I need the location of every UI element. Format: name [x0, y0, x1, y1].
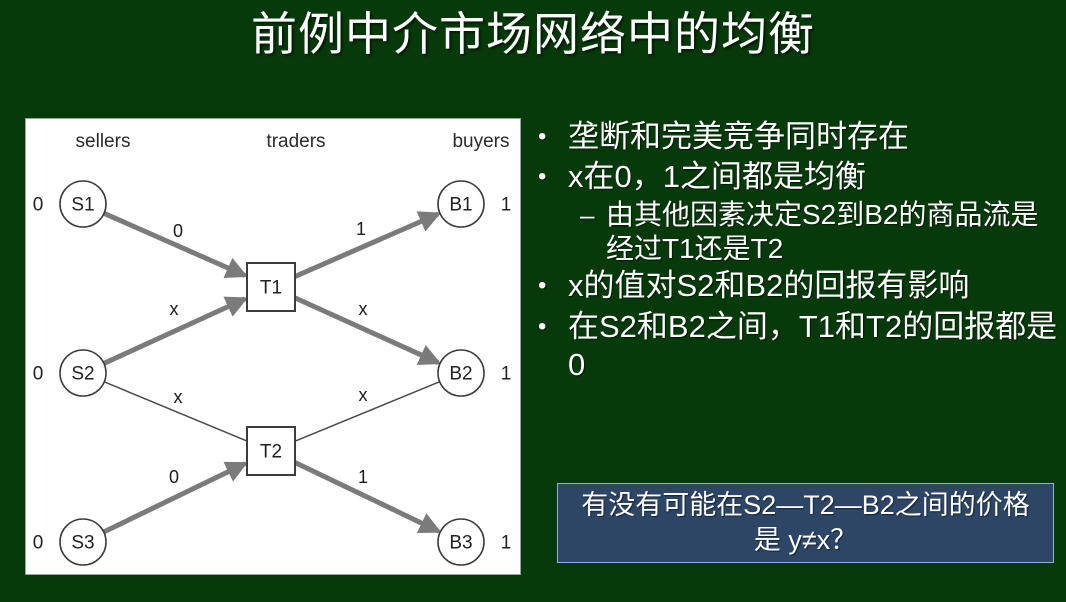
column-header-sellers: sellers — [76, 131, 131, 152]
bullet-item: •在S2和B2之间，T1和T2的回报都是0 — [536, 308, 1060, 384]
node-label-T1: T1 — [260, 278, 282, 299]
bullet-marker-icon: • — [538, 267, 568, 304]
bullet-text: 垄断和完美竞争同时存在 — [568, 118, 1060, 156]
node-label-B2: B2 — [449, 364, 472, 385]
graph-node-S3: S30 — [33, 519, 106, 565]
network-diagram-panel: sellerstradersbuyers 0xx01xx1 S10S20S30T… — [25, 118, 521, 575]
edge-label-S3-to-T2: 0 — [169, 467, 179, 487]
question-callout-box: 有没有可能在S2—T2—B2之间的价格是 y≠x？ — [557, 483, 1054, 563]
graph-node-T1: T1 — [247, 263, 295, 311]
bullet-item: –由其他因素决定S2到B2的商品流是经过T1还是T2 — [536, 198, 1060, 265]
edge-label-T2-to-B2: x — [359, 385, 368, 405]
edge-label-T1-to-B1: 1 — [356, 219, 366, 239]
graph-node-T2: T2 — [247, 427, 295, 475]
node-value-B3: 1 — [501, 533, 512, 554]
page-title: 前例中介市场网络中的均衡 — [0, 8, 1066, 61]
edge-label-T2-to-B3: 1 — [358, 467, 368, 487]
column-header-buyers: buyers — [452, 131, 509, 152]
node-label-S2: S2 — [71, 364, 94, 385]
graph-node-B3: B31 — [438, 519, 511, 565]
graph-node-S2: S20 — [33, 350, 106, 396]
bullet-item: •垄断和完美竞争同时存在 — [536, 118, 1060, 156]
node-value-S3: 0 — [33, 533, 44, 554]
column-header-traders: traders — [266, 131, 325, 152]
bullet-marker-icon: – — [580, 198, 606, 233]
node-value-B1: 1 — [501, 195, 512, 216]
bullet-list: •垄断和完美竞争同时存在•x在0，1之间都是均衡–由其他因素决定S2到B2的商品… — [536, 118, 1060, 386]
node-label-T2: T2 — [260, 442, 282, 463]
node-value-B2: 1 — [501, 364, 512, 385]
bullet-text: x在0，1之间都是均衡 — [568, 158, 1060, 196]
bullet-text: 在S2和B2之间，T1和T2的回报都是0 — [568, 308, 1060, 384]
node-label-S1: S1 — [71, 195, 94, 216]
network-diagram-svg: sellerstradersbuyers 0xx01xx1 S10S20S30T… — [26, 119, 522, 576]
graph-edge-T1-to-B1 — [295, 214, 438, 277]
edge-label-S2-to-T1: x — [170, 299, 179, 319]
node-label-S3: S3 — [71, 533, 94, 554]
column-headers: sellerstradersbuyers — [76, 131, 510, 152]
edge-label-T1-to-B2: x — [359, 299, 368, 319]
question-callout-text: 有没有可能在S2—T2—B2之间的价格是 y≠x？ — [558, 488, 1053, 557]
bullet-marker-icon: • — [538, 158, 568, 195]
bullet-marker-icon: • — [538, 308, 568, 345]
bullet-text: x的值对S2和B2的回报有影响 — [568, 267, 1060, 305]
nodes-group: S10S20S30T1T2B11B21B31 — [33, 181, 512, 565]
graph-node-S1: S10 — [33, 181, 106, 227]
bullet-item: •x的值对S2和B2的回报有影响 — [536, 267, 1060, 305]
node-value-S2: 0 — [33, 364, 44, 385]
bullet-marker-icon: • — [538, 118, 568, 155]
bullet-item: •x在0，1之间都是均衡 — [536, 158, 1060, 196]
graph-node-B2: B21 — [438, 350, 511, 396]
edge-label-S2-to-T2: x — [174, 387, 183, 407]
node-label-B3: B3 — [449, 533, 472, 554]
node-label-B1: B1 — [449, 195, 472, 216]
edges-group: 0xx01xx1 — [104, 213, 440, 532]
edge-label-S1-to-T1: 0 — [173, 221, 183, 241]
graph-node-B1: B11 — [438, 181, 511, 227]
bullet-text: 由其他因素决定S2到B2的商品流是经过T1还是T2 — [606, 198, 1060, 265]
node-value-S1: 0 — [33, 195, 44, 216]
